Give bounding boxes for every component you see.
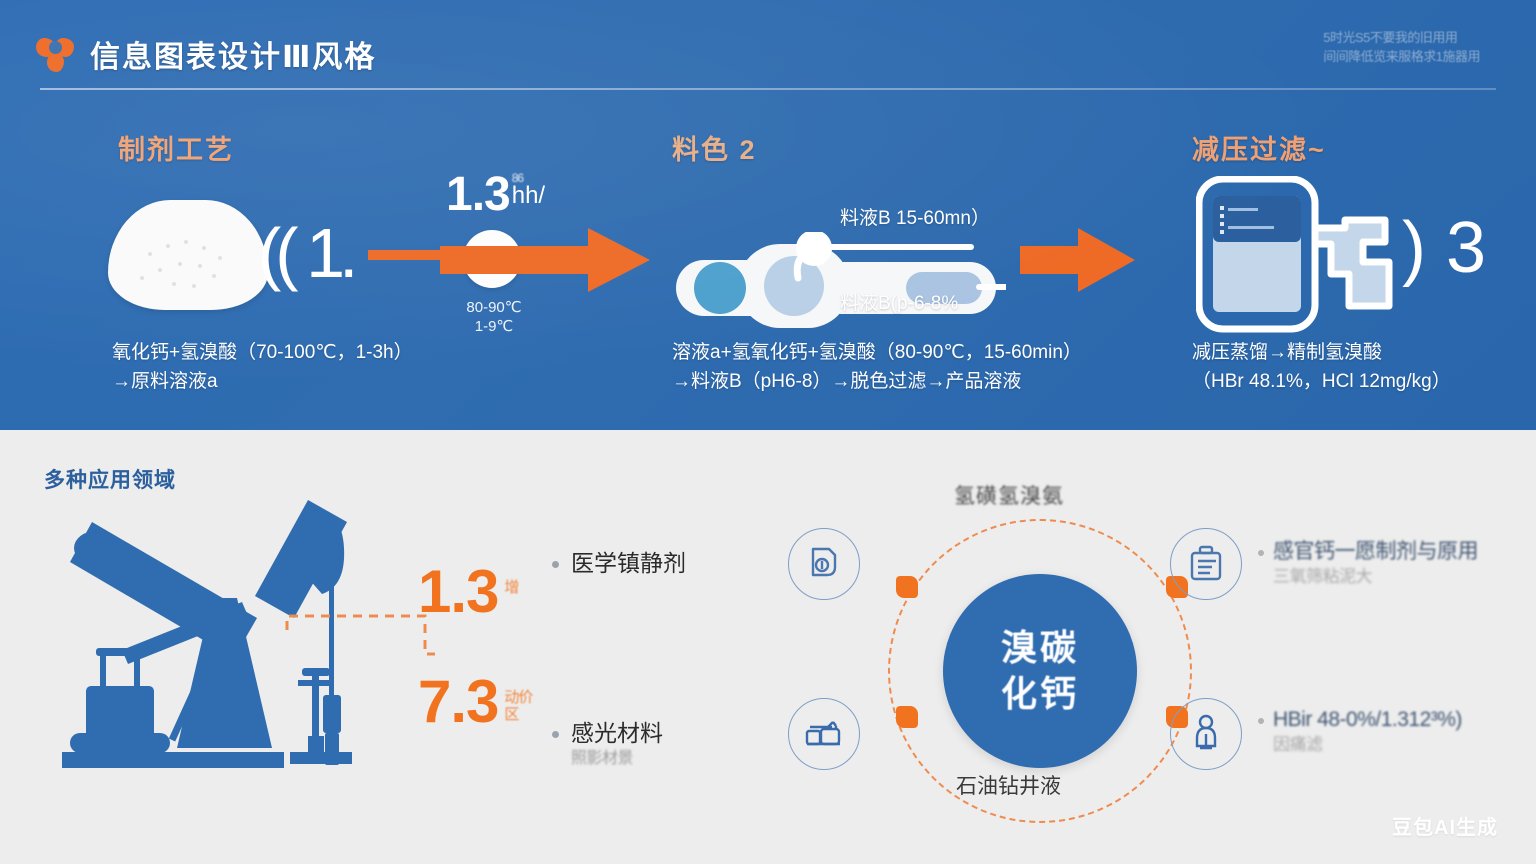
hub-side-text-1: 感官钙一愿制剂与原用 三氧筛粘泥大 xyxy=(1258,538,1478,589)
application-bullet-2-label: 感光材料 xyxy=(571,718,663,748)
hub-side-text-2: HBir 48-0%/1.312³%) 因痛滤 xyxy=(1258,706,1462,757)
application-bullet-2: 感光材料 照影材景 xyxy=(552,718,663,770)
step-1-stat-value: 1.3 xyxy=(446,172,510,218)
application-bullet-2-sublabel: 照影材景 xyxy=(571,748,663,770)
page-title: 信息图表设计Ⅲ风格 xyxy=(90,32,376,76)
step-1-stat-unit-group: 86 hh/ xyxy=(512,172,545,208)
watermark: 豆包AI生成 xyxy=(1392,811,1498,840)
connector-bar xyxy=(368,250,448,260)
corner-note-line-2: 间间降低览来服格求1施器用 xyxy=(1323,47,1480,66)
bullet-dot-icon xyxy=(552,561,559,568)
process-panel: 信息图表设计Ⅲ风格 5时光S5不要我的旧用用 间间降低览来服格求1施器用 制剂工… xyxy=(0,0,1536,430)
clipboard-report-icon[interactable] xyxy=(1170,528,1242,600)
hub-side-text-2-sub: 因痛滤 xyxy=(1273,733,1462,757)
distillation-unit-icon xyxy=(1196,176,1426,341)
step-1-temp-line-2: 1-9℃ xyxy=(444,317,544,336)
hub-core-line-1: 溴碳 xyxy=(1001,625,1079,671)
process-arrow-2-icon xyxy=(1020,228,1135,292)
hub-side-text-1-main: 感官钙一愿制剂与原用 xyxy=(1273,538,1478,565)
step-1-heading: 制剂工艺 xyxy=(118,128,234,167)
hub-label-top: 氢磺氢溴氨 xyxy=(954,480,1064,510)
dashed-connector xyxy=(285,610,435,665)
hub-side-text-2-main: HBir 48-0%/1.312³%) xyxy=(1273,706,1462,733)
step-1-stat: 1.3 86 hh/ xyxy=(446,172,545,218)
applications-panel: 多种应用领域 xyxy=(0,430,1536,864)
application-stat-2-value: 7.3 xyxy=(418,673,498,731)
application-stat-2-unit: 动价 区 xyxy=(504,673,532,723)
document-info-icon[interactable] xyxy=(788,528,860,600)
step-1-temperature: 80-90℃ 1-9℃ xyxy=(444,298,544,336)
application-stat-1: 1.3 增 xyxy=(418,563,518,621)
step-2-label-top: 料液B 15-60mn） xyxy=(840,203,990,230)
hub-side-text-1-sub: 三氧筛粘泥大 xyxy=(1273,565,1478,589)
molecule-flower-logo-icon xyxy=(36,33,74,75)
step-3-paren-mark: ) 3 xyxy=(1402,212,1486,284)
hub-node-bottom-left xyxy=(896,706,918,728)
powder-pile-icon xyxy=(108,200,268,310)
step-1-stat-unit: hh/ xyxy=(512,184,545,208)
machinery-truck-icon[interactable] xyxy=(788,698,860,770)
bullet-dot-icon xyxy=(1258,718,1264,724)
application-stat-1-value: 1.3 xyxy=(418,563,498,621)
worker-person-icon[interactable] xyxy=(1170,698,1242,770)
hub-diagram: 氢磺氢溴氨 石油钻井液 溴碳 化钙 xyxy=(770,490,1470,850)
hub-core: 溴碳 化钙 xyxy=(943,574,1137,768)
step-1-paren-mark: (( 1. xyxy=(258,218,352,288)
brand: 信息图表设计Ⅲ风格 xyxy=(36,32,376,76)
step-1-stat-unit-small: 86 xyxy=(512,172,545,184)
hub-node-top-left xyxy=(896,576,918,598)
step-1-caption: 氧化钙+氢溴酸（70-100℃，1-3h） →原料溶液a xyxy=(112,338,413,396)
step-3-heading: 减压过滤~ xyxy=(1192,128,1326,167)
application-bullet-1: 医学镇静剂 xyxy=(552,548,686,578)
step-2-caption: 溶液a+氢氧化钙+氢溴酸（80-90℃，15-60min） →料液B（pH6-8… xyxy=(672,338,1082,396)
bullet-dot-icon xyxy=(552,731,559,738)
step-2-heading: 料色 2 xyxy=(672,128,757,167)
step-1-temp-line-1: 80-90℃ xyxy=(444,298,544,317)
application-stat-2: 7.3 动价 区 xyxy=(418,673,532,731)
header-divider xyxy=(40,88,1496,90)
step-3-caption: 减压蒸馏→精制氢溴酸 （HBr 48.1%，HCl 12mg/kg） xyxy=(1192,338,1451,396)
process-arrow-1-icon xyxy=(440,228,650,292)
application-bullet-1-label: 医学镇静剂 xyxy=(571,548,686,578)
corner-note: 5时光S5不要我的旧用用 间间降低览来服格求1施器用 xyxy=(1323,28,1480,66)
step-2-label-bottom: 料液B(p-6-8% xyxy=(840,288,958,315)
corner-note-line-1: 5时光S5不要我的旧用用 xyxy=(1323,28,1480,47)
bullet-dot-icon xyxy=(1258,550,1264,556)
hub-core-line-2: 化钙 xyxy=(1001,671,1079,717)
application-stat-1-unit: 增 xyxy=(504,563,518,596)
